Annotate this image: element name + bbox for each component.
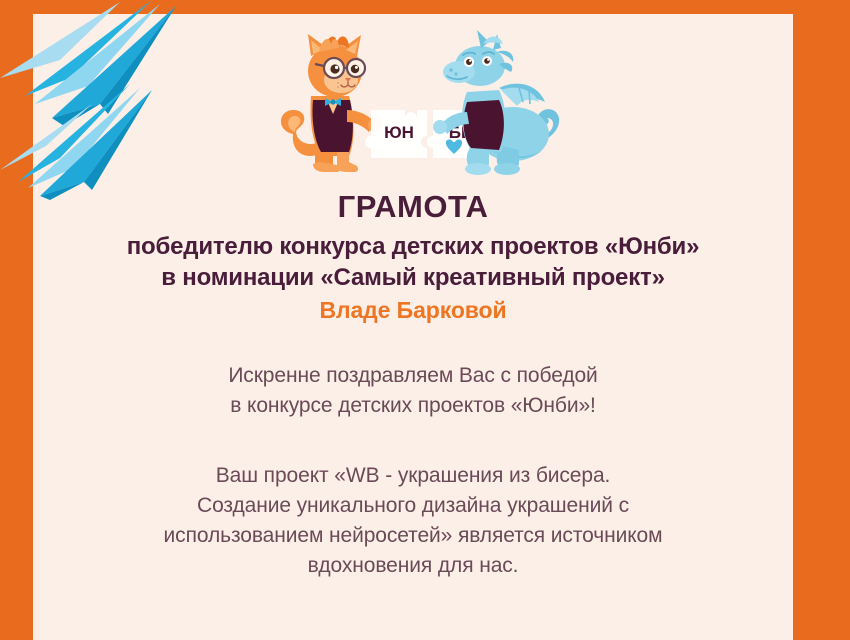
project-paragraph: Ваш проект «WB - украшения из бисера. Со… [33,461,793,580]
puzzle-left-label: ЮН [384,123,414,142]
project-line-4: вдохновения для нас. [33,551,793,581]
project-line-3: использованием нейросетей» является исто… [33,521,793,551]
puzzle-piece-left: ЮН [365,110,427,158]
recipient-name: Владе Барковой [33,295,793,325]
project-line-1: Ваш проект «WB - украшения из бисера. [33,461,793,491]
certificate-page: ЮН БИ [0,0,850,640]
subtitle-line-1: победителю конкурса детских проектов «Юн… [33,231,793,262]
cat-mascot-icon [281,34,382,172]
certificate-text-block: ГРАМОТА победителю конкурса детских прое… [33,190,793,580]
congrats-line-1: Искренне поздравляем Вас с победой [33,361,793,391]
project-line-2: Создание уникального дизайна украшений с [33,491,793,521]
subtitle-line-2: в номинации «Самый креативный проект» [33,262,793,293]
congratulations-paragraph: Искренне поздравляем Вас с победой в кон… [33,361,793,421]
certificate-subtitle: победителю конкурса детских проектов «Юн… [33,231,793,293]
mascots-illustration: ЮН БИ [275,26,575,176]
page-title: ГРАМОТА [33,190,793,225]
junbi-logo: ЮН БИ [0,26,850,176]
congrats-line-2: в конкурсе детских проектов «Юнби»! [33,391,793,421]
